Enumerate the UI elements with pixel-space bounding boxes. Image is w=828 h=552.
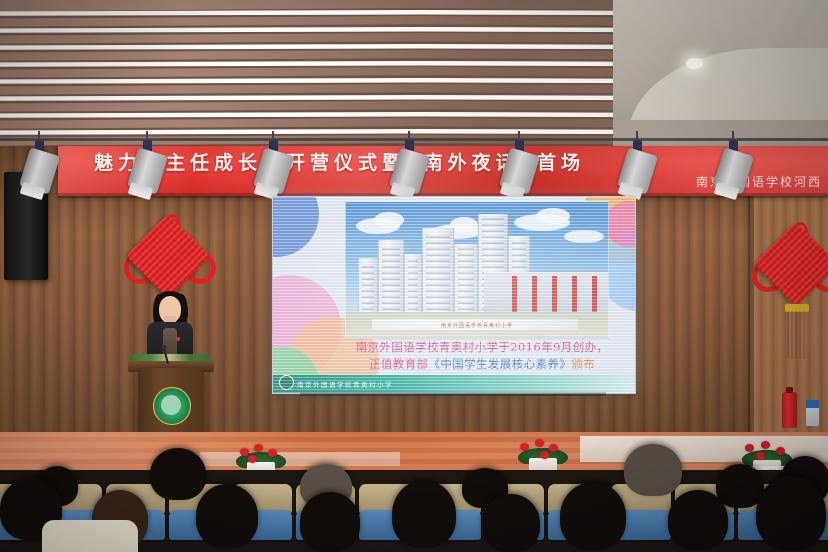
stage-spotlight <box>402 140 418 192</box>
caption-book-title: 《中国学生发展核心素养》 <box>428 357 571 371</box>
slide-caption-line2: 正值教育部《中国学生发展核心素养》颁布 <box>339 356 625 373</box>
stage-spotlight <box>140 140 156 192</box>
fire-extinguisher <box>782 392 797 428</box>
slide-blob-blue-left <box>272 196 319 257</box>
stage-front-skirt-left <box>200 452 400 466</box>
wall-control-box-label <box>806 400 819 408</box>
audience-head <box>300 492 360 552</box>
screen-base-shadow <box>300 392 606 396</box>
audience-head <box>150 448 206 500</box>
audience-head <box>392 480 456 548</box>
chinese-knot-decoration <box>756 216 828 366</box>
audience-coat <box>42 520 138 552</box>
stage-spotlight <box>32 140 48 192</box>
slide-caption-line1: 南京外国语学校青奥村小学于2016年9月创办， <box>339 339 625 356</box>
stage-spotlight <box>630 140 646 192</box>
audience-head <box>668 490 728 550</box>
audience-head <box>196 484 258 548</box>
presenter-badge <box>176 337 180 341</box>
event-banner: 魅力班主任成长营开营仪式暨“南外夜话”首场 南京外国语学校河西 <box>58 146 828 196</box>
caption-prefix: 正值教育部 <box>369 357 429 371</box>
audience-head <box>624 444 682 496</box>
audience-head <box>560 482 626 550</box>
audience-seating-area <box>0 470 828 552</box>
slide-caption: 南京外国语学校青奥村小学于2016年9月创办， 正值教育部《中国学生发展核心素养… <box>339 339 625 373</box>
slide-logo-text: 南京外国语学校青奥村小学 <box>297 379 393 389</box>
slide-campus-photo: 南京外国语学校青奥村小学 <box>345 201 609 339</box>
microphone-icon <box>161 345 167 349</box>
audience-head <box>482 494 540 552</box>
banner-main-text: 魅力班主任成长营开营仪式暨“南外夜话”首场 <box>94 148 794 175</box>
school-emblem-inner <box>161 395 181 415</box>
auditorium-scene: 魅力班主任成长营开营仪式暨“南外夜话”首场 南京外国语学校河西 <box>0 0 828 552</box>
stage-spotlight <box>726 140 742 192</box>
flower-arrangement <box>516 438 570 474</box>
stage-spotlight <box>512 140 528 192</box>
school-logo-icon <box>279 375 294 390</box>
audience-head <box>756 476 826 550</box>
ceiling-downlight-icon <box>686 58 703 69</box>
slide-logo-bar: 南京外国语学校青奥村小学 <box>273 375 635 393</box>
caption-suffix: 颁布 <box>571 357 595 371</box>
slide-photo-gate-text: 南京外国语学校青奥村小学 <box>382 322 572 329</box>
presentation-screen: 南京外国语学校青奥村小学 南京外国语学校青奥村小学于2016年9月创办， 正值教… <box>272 196 636 394</box>
stage-spotlight <box>266 140 282 192</box>
